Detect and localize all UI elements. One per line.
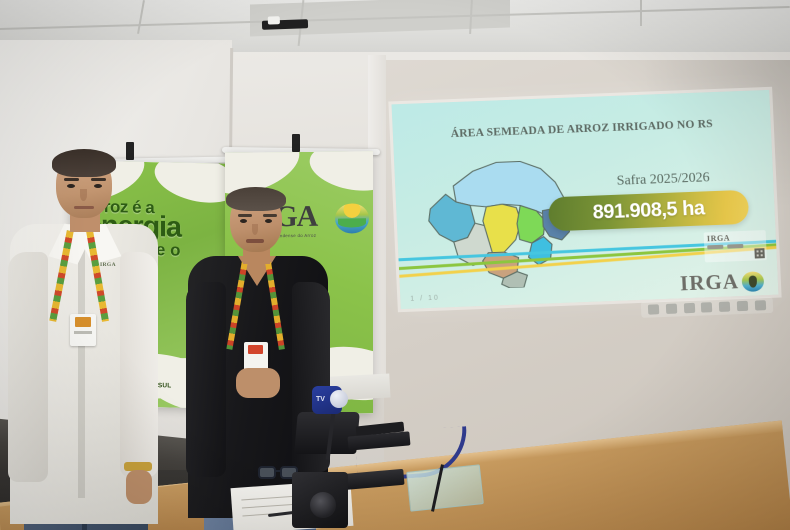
mouth	[74, 206, 94, 209]
microphone-windscreen	[330, 390, 348, 408]
shirt-placket	[78, 248, 85, 498]
hands	[236, 368, 280, 398]
slides-icon[interactable]	[684, 303, 695, 313]
presenter-left: IRGA	[8, 152, 158, 530]
corner-logo-chip	[707, 245, 723, 250]
slide-counter: 1 / 10	[410, 295, 440, 303]
glasses-lens	[258, 466, 276, 479]
presenter-left-arm	[120, 252, 158, 477]
glasses-bridge	[275, 470, 282, 472]
presenter-left-arm	[8, 252, 48, 482]
hair	[52, 149, 116, 177]
banner-clip	[292, 134, 300, 152]
eye	[67, 184, 75, 188]
track-light-icon	[262, 19, 308, 30]
photo-scene: Arroz é a energia que move o Brasil GOVE…	[0, 0, 790, 530]
eyebrow	[64, 178, 79, 181]
speaker-cone-icon	[310, 492, 336, 518]
season-label: Safra 2025/2026	[573, 169, 754, 192]
slide-footer-logo: IRGA	[680, 270, 765, 294]
hair	[226, 187, 286, 211]
eyebrow	[238, 214, 252, 217]
id-badge	[70, 314, 96, 346]
pointer-icon[interactable]	[648, 304, 659, 314]
projection-screen: ÁREA SEMEADA DE ARROZ IRRIGADO NO RS	[391, 90, 778, 309]
nose	[252, 224, 258, 235]
zoom-icon[interactable]	[701, 302, 712, 312]
nose	[80, 189, 87, 201]
corner-logo-chip	[727, 244, 743, 249]
mouth	[246, 239, 264, 243]
footer-irga-wordmark: IRGA	[680, 271, 740, 294]
area-value-text: 891.908,5 ha	[592, 197, 705, 224]
laser-icon[interactable]	[666, 304, 677, 314]
qr-code-icon	[754, 248, 764, 258]
area-value-badge: 891.908,5 ha	[548, 190, 749, 232]
eye	[240, 219, 247, 223]
presenter-right-arm	[186, 282, 226, 477]
presentation-slide: ÁREA SEMEADA DE ARROZ IRRIGADO NO RS	[391, 90, 778, 309]
eye	[94, 184, 102, 188]
more-icon[interactable]	[737, 301, 748, 311]
glass-panel	[406, 464, 484, 512]
eye	[265, 219, 272, 223]
exit-icon[interactable]	[754, 300, 765, 310]
hand	[126, 470, 152, 504]
footer-emblem-icon	[741, 271, 764, 292]
ceiling-grid-line	[137, 0, 145, 34]
eyebrow	[263, 214, 277, 217]
slide-corner-logo-block: IRGA	[704, 230, 767, 262]
captions-icon[interactable]	[719, 302, 730, 312]
ceiling-grid-line	[640, 0, 642, 26]
mic-flag-label: TV	[316, 396, 325, 403]
corner-irga-wordmark: IRGA	[707, 232, 763, 243]
shirt-logo: IRGA	[100, 262, 116, 268]
slide-title: ÁREA SEMEADA DE ARROZ IRRIGADO NO RS	[393, 116, 771, 142]
eyebrow	[91, 178, 106, 181]
